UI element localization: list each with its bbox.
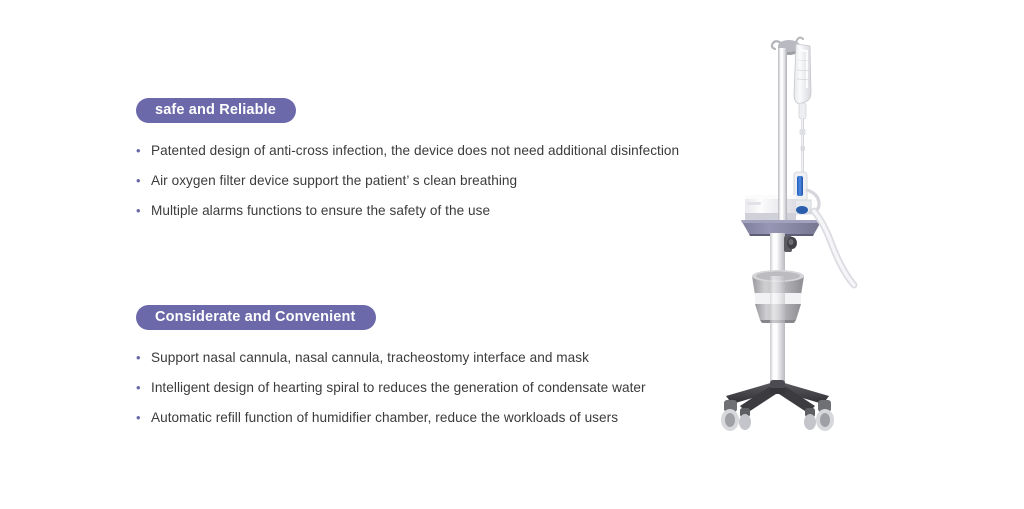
bullet-dot-icon xyxy=(136,403,146,433)
list-item: Intelligent design of hearting spiral to… xyxy=(136,373,706,403)
section-badge-safe-and-reliable: safe and Reliable xyxy=(136,98,296,123)
breathing-circuit-tube xyxy=(814,211,854,285)
page-root: safe and Reliable Patented design of ant… xyxy=(0,0,1024,509)
accessory-basket xyxy=(752,270,804,323)
pole-clamp-knob xyxy=(784,236,797,252)
upper-pole xyxy=(778,48,787,220)
bullet-text: Multiple alarms functions to ensure the … xyxy=(146,196,490,226)
iv-bag xyxy=(794,44,811,104)
five-leg-base xyxy=(726,380,829,413)
list-item: Air oxygen filter device support the pat… xyxy=(136,166,706,196)
bullet-dot-icon xyxy=(136,373,146,403)
casters xyxy=(721,400,834,431)
bullet-text: Air oxygen filter device support the pat… xyxy=(146,166,517,196)
caster xyxy=(721,400,739,431)
bullet-text: Support nasal cannula, nasal cannula, tr… xyxy=(146,343,589,373)
bullet-dot-icon xyxy=(136,136,146,166)
list-item: Multiple alarms functions to ensure the … xyxy=(136,196,706,226)
features-content: safe and Reliable Patented design of ant… xyxy=(136,0,706,509)
feature-section-considerate-and-convenient: Considerate and Convenient Support nasal… xyxy=(136,305,706,433)
bullet-dot-icon xyxy=(136,166,146,196)
bullet-list-considerate-and-convenient: Support nasal cannula, nasal cannula, tr… xyxy=(136,343,706,433)
product-image-oxygen-therapy-device xyxy=(700,14,890,444)
list-item: Automatic refill function of humidifier … xyxy=(136,403,706,433)
bullet-dot-icon xyxy=(136,343,146,373)
main-unit xyxy=(745,195,796,220)
feature-section-safe-and-reliable: safe and Reliable Patented design of ant… xyxy=(136,98,706,226)
caster xyxy=(816,400,834,431)
bullet-text: Patented design of anti-cross infection,… xyxy=(146,136,679,166)
bullet-text: Intelligent design of hearting spiral to… xyxy=(146,373,646,403)
caster xyxy=(739,408,751,430)
caster xyxy=(804,408,816,430)
bullet-dot-icon xyxy=(136,196,146,226)
section-badge-considerate-and-convenient: Considerate and Convenient xyxy=(136,305,376,330)
bullet-list-safe-and-reliable: Patented design of anti-cross infection,… xyxy=(136,136,706,226)
bullet-text: Automatic refill function of humidifier … xyxy=(146,403,618,433)
list-item: Support nasal cannula, nasal cannula, tr… xyxy=(136,343,706,373)
list-item: Patented design of anti-cross infection,… xyxy=(136,136,706,166)
